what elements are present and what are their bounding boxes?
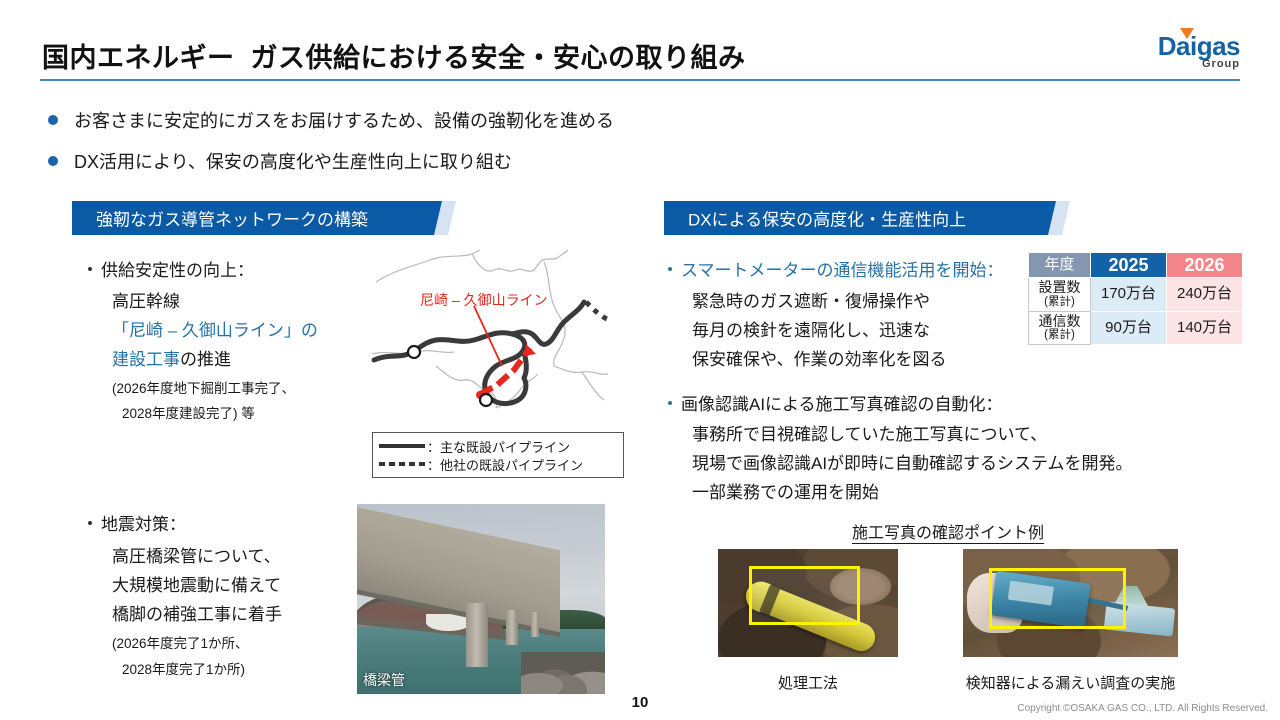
- col-header-2025: 2025: [1091, 253, 1167, 278]
- summary-bullet-2: DX活用により、保安の高度化や生産性向上に取り組む: [48, 148, 512, 174]
- ai-example-photo-1: [718, 549, 898, 657]
- supply-line-2: 「尼崎 – 久御山ライン」の: [112, 316, 318, 341]
- supply-line-3-suffix: の推進: [180, 350, 231, 369]
- ai-example-photo-2: [963, 549, 1178, 657]
- bridge-pipe-photo: 橋梁管: [357, 504, 605, 694]
- row-label: 設置数: [1039, 279, 1081, 295]
- supply-note-1: (2026年度地下掘削工事完了、: [112, 377, 295, 397]
- supply-line-1: 高圧幹線: [112, 287, 180, 312]
- logo-subtext: Group: [1202, 58, 1240, 70]
- smart-meter-heading: スマートメーターの通信機能活用を開始：: [668, 256, 1004, 281]
- pipeline-map: 尼崎 – 久御山ライン ：主な既設パイプライン ：他社の既設パイプライン: [368, 248, 626, 478]
- ai-line-3: 一部業務での運用を開始: [692, 478, 879, 503]
- ai-examples-title-wrap: 施工写真の確認ポイント例: [718, 519, 1178, 543]
- smart-meter-line-1: 緊急時のガス遮断・復帰操作や: [692, 287, 930, 312]
- summary-bullet-2-text: DX活用により、保安の高度化や生産性向上に取り組む: [74, 152, 512, 172]
- right-section-banner: DXによる保安の高度化・生産性向上: [664, 201, 1094, 235]
- ai-example-caption-1: 処理工法: [718, 672, 898, 693]
- ai-detection-box: [989, 568, 1127, 628]
- smart-meter-line-2: 毎月の検針を遠隔化し、迅速な: [692, 316, 930, 341]
- legend-label-main: ：主な既設パイプライン: [427, 437, 570, 456]
- ai-line-1: 事務所で目視確認していた施工写真について、: [692, 420, 1047, 445]
- bridge-pier: [506, 610, 518, 644]
- cell-installations-2026: 240万台: [1167, 278, 1243, 312]
- table-row: 通信数 (累計) 90万台 140万台: [1029, 311, 1243, 345]
- bullet-dot-icon: [48, 156, 58, 166]
- right-section-banner-label: DXによる保安の高度化・生産性向上: [688, 206, 966, 231]
- legend-row-other: ：他社の既設パイプライン: [379, 455, 617, 473]
- page-title: 国内エネルギー ガス供給における安全・安心の取り組み: [42, 36, 746, 75]
- bridge-photo-label: 橋梁管: [363, 670, 405, 690]
- pipeline-map-svg: [368, 248, 626, 448]
- supply-stability-heading: 供給安定性の向上：: [88, 256, 254, 281]
- supply-line-3-highlight: 建設工事: [112, 350, 180, 369]
- summary-bullet-1: お客さまに安定的にガスをお届けするため、設備の強靭化を進める: [48, 107, 614, 133]
- earthquake-line-1: 高圧橋梁管について、: [112, 542, 281, 567]
- summary-bullet-1-text: お客さまに安定的にガスをお届けするため、設備の強靭化を進める: [74, 111, 614, 131]
- cell-communications-2026: 140万台: [1167, 311, 1243, 345]
- supply-note-2: 2028年度建設完了) 等: [122, 402, 255, 422]
- bullet-dot-icon: [48, 115, 58, 125]
- left-section-banner-label: 強靭なガス導管ネットワークの構築: [96, 206, 368, 231]
- smart-meter-line-3: 保安確保や、作業の効率化を図る: [692, 345, 947, 370]
- map-legend: ：主な既設パイプライン ：他社の既設パイプライン: [372, 432, 624, 478]
- ai-example-caption-2: 検知器による漏えい調査の実施: [963, 672, 1178, 693]
- table-header-row: 年度 2025 2026: [1029, 253, 1243, 278]
- ai-detection-box: [749, 566, 861, 624]
- bridge-pier: [531, 612, 540, 637]
- sub-bullet-icon: [88, 267, 92, 271]
- ai-heading: 画像認識AIによる施工写真確認の自動化：: [668, 390, 1003, 415]
- earthquake-line-2: 大規模地震動に備えて: [112, 571, 281, 596]
- row-sublabel: (累計): [1035, 329, 1084, 342]
- earthquake-line-3: 橋脚の補強工事に着手: [112, 600, 282, 625]
- daigas-logo: Daigas Group: [1132, 27, 1242, 73]
- sub-bullet-icon: [88, 521, 92, 525]
- bridge-pier: [466, 603, 488, 668]
- cell-installations-2025: 170万台: [1091, 278, 1167, 312]
- cell-communications-2025: 90万台: [1091, 311, 1167, 345]
- legend-row-main: ：主な既設パイプライン: [379, 437, 617, 455]
- legend-label-other: ：他社の既設パイプライン: [427, 455, 583, 474]
- sub-bullet-icon: [668, 267, 672, 271]
- smart-meter-table: 年度 2025 2026 設置数 (累計) 170万台 240万台 通信数 (累…: [1028, 252, 1243, 345]
- row-label: 通信数: [1039, 313, 1081, 329]
- col-header-2026: 2026: [1167, 253, 1243, 278]
- left-section-banner: 強靭なガス導管ネットワークの構築: [72, 201, 472, 235]
- dashed-line-icon: [379, 462, 425, 466]
- row-header-communications: 通信数 (累計): [1029, 311, 1091, 345]
- supply-line-3: 建設工事の推進: [112, 345, 231, 370]
- rocky-bank: [521, 652, 605, 694]
- map-callout-label: 尼崎 – 久御山ライン: [420, 290, 548, 310]
- title-divider: [40, 79, 1240, 81]
- row-header-installations: 設置数 (累計): [1029, 278, 1091, 312]
- logo-wordmark: Daigas: [1158, 33, 1240, 59]
- copyright-notice: Copyright ©OSAKA GAS CO., LTD. All Right…: [1017, 703, 1268, 714]
- row-sublabel: (累計): [1035, 296, 1084, 309]
- earthquake-heading: 地震対策：: [88, 510, 186, 535]
- earthquake-note-1: (2026年度完了1か所、: [112, 632, 249, 652]
- ai-line-2: 現場で画像認識AIが即時に自動確認するシステムを開発。: [692, 449, 1133, 474]
- table-row: 設置数 (累計) 170万台 240万台: [1029, 278, 1243, 312]
- sub-bullet-icon: [668, 401, 672, 405]
- solid-line-icon: [379, 444, 425, 448]
- earthquake-note-2: 2028年度完了1か所): [122, 658, 245, 678]
- ai-examples-title: 施工写真の確認ポイント例: [852, 525, 1044, 544]
- col-header-year: 年度: [1029, 253, 1091, 278]
